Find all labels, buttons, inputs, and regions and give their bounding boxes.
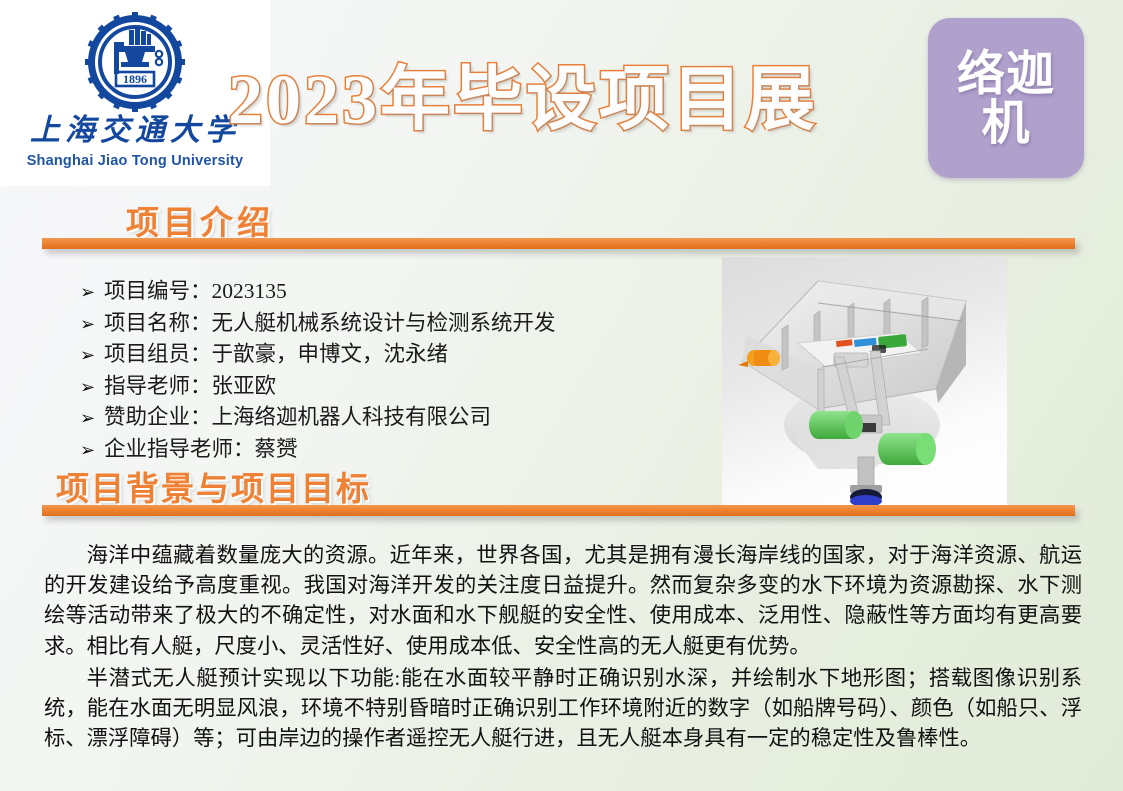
- list-item: ➢ 项目名称： 无人艇机械系统设计与检测系统开发: [80, 308, 720, 340]
- info-label: 项目组员：: [104, 339, 212, 371]
- thruster-left: [809, 411, 863, 439]
- emblem-year-text: 1896: [123, 72, 147, 86]
- usv-cad-render-figure: [722, 257, 1007, 510]
- background-body-text: 海洋中蕴藏着数量庞大的资源。近年来，世界各国，尤其是拥有漫长海岸线的国家，对于海…: [44, 540, 1082, 756]
- arrow-bullet-icon: ➢: [80, 342, 104, 368]
- usv-cad-render-image: [722, 257, 1007, 510]
- list-item: ➢ 赞助企业： 上海络迦机器人科技有限公司: [80, 402, 720, 434]
- section-heading-intro: 项目介绍: [126, 196, 274, 244]
- divider-intro: [42, 238, 1075, 249]
- sponsor-brand-badge: 络迦 机: [928, 18, 1084, 178]
- paragraph: 海洋中蕴藏着数量庞大的资源。近年来，世界各国，尤其是拥有漫长海岸线的国家，对于海…: [44, 540, 1082, 661]
- page-title: 2023年毕设项目展: [228, 66, 818, 136]
- info-label: 赞助企业：: [104, 402, 212, 434]
- info-label: 指导老师：: [104, 371, 212, 403]
- info-value: 于歆豪，申博文，沈永绪: [212, 339, 449, 371]
- info-label: 项目名称：: [104, 308, 212, 340]
- info-label: 项目编号：: [104, 276, 212, 308]
- sjtu-emblem-icon: 1896: [83, 10, 187, 114]
- info-value: 2023135: [212, 276, 287, 308]
- paragraph: 半潜式无人艇预计实现以下功能:能在水面较平静时正确识别水深，并绘制水下地形图；搭…: [44, 663, 1082, 754]
- info-label: 企业指导老师：: [104, 434, 255, 466]
- arrow-bullet-icon: ➢: [80, 279, 104, 305]
- info-value: 蔡赟: [255, 434, 298, 466]
- university-name-en: Shanghai Jiao Tong University: [27, 153, 244, 169]
- divider-background: [42, 505, 1075, 516]
- list-item: ➢ 项目编号： 2023135: [80, 276, 720, 308]
- sponsor-badge-line1: 络迦: [957, 51, 1055, 100]
- arrow-bullet-icon: ➢: [80, 311, 104, 337]
- info-value: 上海络迦机器人科技有限公司: [212, 402, 492, 434]
- info-value: 张亚欧: [212, 371, 277, 403]
- arrow-bullet-icon: ➢: [80, 374, 104, 400]
- arrow-bullet-icon: ➢: [80, 437, 104, 463]
- section-heading-background: 项目背景与项目目标: [56, 462, 371, 510]
- thruster-right: [878, 433, 936, 465]
- list-item: ➢ 指导老师： 张亚欧: [80, 371, 720, 403]
- list-item: ➢ 项目组员： 于歆豪，申博文，沈永绪: [80, 339, 720, 371]
- poster-canvas: 1896 上海交通大学 Shanghai Jiao Tong Universit…: [0, 0, 1123, 791]
- project-info-list: ➢ 项目编号： 2023135 ➢ 项目名称： 无人艇机械系统设计与检测系统开发…: [80, 276, 720, 466]
- sponsor-badge-line2: 机: [981, 100, 1030, 149]
- list-item: ➢ 企业指导老师： 蔡赟: [80, 434, 720, 466]
- info-value: 无人艇机械系统设计与检测系统开发: [212, 308, 556, 340]
- university-name-cn: 上海交通大学: [30, 116, 240, 146]
- arrow-bullet-icon: ➢: [80, 405, 104, 431]
